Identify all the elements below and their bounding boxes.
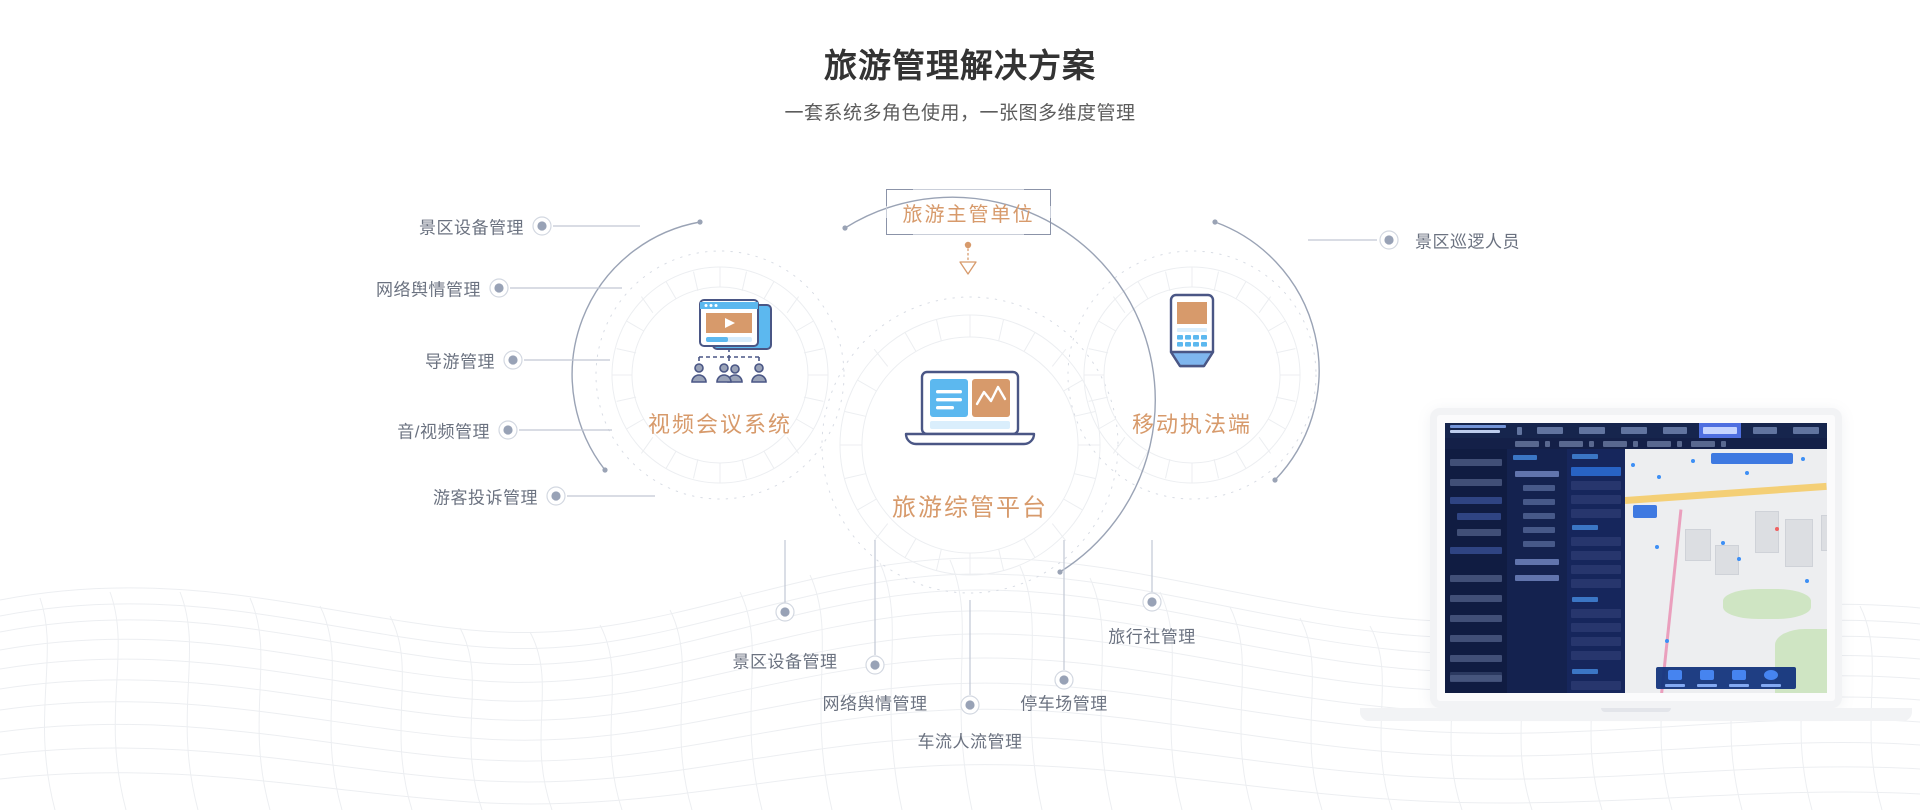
- dashboard-tab-4[interactable]: [1647, 441, 1671, 447]
- map-pin-11[interactable]: [1737, 557, 1741, 561]
- map-tool-label-2: [1697, 684, 1717, 687]
- bottom-connector-lines: [785, 540, 1152, 695]
- laptop-mockup: [1352, 408, 1920, 768]
- authority-connector-arrow: [960, 242, 976, 274]
- layer-item-10[interactable]: [1571, 623, 1621, 632]
- map-block-8: [1715, 545, 1739, 575]
- map-pin-15[interactable]: [1665, 639, 1669, 643]
- dashboard-tab-1[interactable]: [1515, 441, 1539, 447]
- map-block-7: [1685, 529, 1711, 561]
- layer-item-9[interactable]: [1571, 609, 1621, 618]
- label-scenic-device-bottom: 景区设备管理: [733, 648, 838, 673]
- map-pin-alert-1[interactable]: [1775, 527, 1779, 531]
- layer-item-2[interactable]: [1571, 481, 1621, 490]
- hub-title-video-conference: 视频会议系统: [648, 407, 792, 439]
- label-tourist-complaint-left: 游客投诉管理: [433, 484, 538, 509]
- dashboard-layers-panel[interactable]: [1567, 449, 1625, 693]
- sidebar-footer: [1450, 672, 1502, 681]
- layer-item-11[interactable]: [1571, 637, 1621, 646]
- tree-node-1-2[interactable]: [1523, 499, 1555, 505]
- hub-circle-mobile-enforcement: [1068, 251, 1316, 499]
- dashboard-tree-panel[interactable]: [1507, 449, 1567, 693]
- sidebar-item-7[interactable]: [1450, 615, 1502, 622]
- page-subtitle: 一套系统多角色使用，一张图多维度管理: [0, 99, 1920, 129]
- dashboard-nav-3[interactable]: [1621, 427, 1647, 434]
- hub-title-tourism-platform: 旅游综管平台: [892, 488, 1048, 523]
- map-pin-5[interactable]: [1801, 457, 1805, 461]
- dashboard-tab-close-5[interactable]: [1721, 441, 1726, 447]
- map-road-secondary: [1659, 509, 1683, 693]
- map-tool-1[interactable]: [1668, 670, 1682, 680]
- sidebar-item-6[interactable]: [1450, 595, 1502, 602]
- sidebar-item-3b[interactable]: [1457, 529, 1501, 536]
- sidebar-item-8[interactable]: [1450, 635, 1502, 642]
- layer-item-4[interactable]: [1571, 509, 1621, 518]
- right-connector-dots: [1380, 231, 1398, 249]
- dashboard-tab-5[interactable]: [1691, 441, 1715, 447]
- sidebar-item-2[interactable]: [1450, 479, 1502, 486]
- dashboard-topbar[interactable]: [1445, 423, 1827, 438]
- sidebar-item-4[interactable]: [1450, 547, 1502, 554]
- map-bottom-toolbar[interactable]: [1656, 667, 1796, 689]
- layer-item-8[interactable]: [1571, 579, 1621, 588]
- layer-item-7[interactable]: [1571, 565, 1621, 574]
- dashboard-tab-2[interactable]: [1559, 441, 1583, 447]
- map-pin-3[interactable]: [1691, 459, 1695, 463]
- laptop-lid: [1430, 408, 1842, 708]
- hub-title-mobile-enforcement: 移动执法端: [1132, 407, 1252, 439]
- handheld-device-icon: [1171, 295, 1213, 366]
- label-tour-guide-left: 导游管理: [425, 348, 495, 373]
- sidebar-item-3a[interactable]: [1457, 513, 1501, 520]
- tree-node-1-1[interactable]: [1523, 485, 1555, 491]
- label-travel-agency-bottom: 旅行社管理: [1108, 623, 1196, 648]
- sidebar-item-1[interactable]: [1450, 459, 1502, 466]
- dashboard-tab-close-2[interactable]: [1589, 441, 1594, 447]
- laptop-screen: [1445, 423, 1827, 693]
- dashboard-nav-2[interactable]: [1579, 427, 1605, 434]
- map-tool-4[interactable]: [1764, 670, 1778, 680]
- map-park-1: [1723, 589, 1811, 619]
- dashboard-nav-active[interactable]: [1699, 423, 1741, 438]
- map-block-2: [1785, 519, 1813, 567]
- tree-panel-title: [1513, 455, 1537, 460]
- map-tool-3[interactable]: [1732, 670, 1746, 680]
- sidebar-item-5[interactable]: [1450, 575, 1502, 582]
- map-tool-2[interactable]: [1700, 670, 1714, 680]
- dashboard-tab-close-3[interactable]: [1633, 441, 1638, 447]
- sidebar-item-9[interactable]: [1450, 655, 1502, 662]
- layer-item-12[interactable]: [1571, 651, 1621, 660]
- label-audio-video-left: 音/视频管理: [397, 418, 490, 443]
- page-stage: 旅游管理解决方案 一套系统多角色使用，一张图多维度管理: [0, 0, 1920, 810]
- layer-item-1[interactable]: [1571, 467, 1621, 476]
- dashboard-tabstrip[interactable]: [1445, 438, 1827, 449]
- dashboard-tab-close-1[interactable]: [1545, 441, 1550, 447]
- authority-label: 旅游主管单位: [886, 189, 1051, 235]
- dashboard-nav-4[interactable]: [1663, 427, 1687, 434]
- label-parking-lot-bottom: 停车场管理: [1020, 690, 1108, 715]
- map-pin-2[interactable]: [1657, 475, 1661, 479]
- authority-badge: 旅游主管单位: [886, 189, 1051, 235]
- dashboard-nav-5[interactable]: [1753, 427, 1777, 434]
- label-scenic-device-left: 景区设备管理: [419, 214, 524, 239]
- dashboard-menu-icon[interactable]: [1517, 427, 1522, 435]
- map-callout: [1633, 505, 1657, 518]
- map-pin-4[interactable]: [1745, 471, 1749, 475]
- dashboard-logo: [1450, 425, 1506, 436]
- map-banner-control[interactable]: [1711, 453, 1793, 464]
- tree-node-1-4[interactable]: [1523, 527, 1555, 533]
- map-pin-9[interactable]: [1655, 545, 1659, 549]
- dashboard-nav-1[interactable]: [1537, 427, 1563, 434]
- label-network-opinion-bottom: 网络舆情管理: [823, 690, 928, 715]
- map-block-1: [1755, 511, 1779, 553]
- tree-node-1-5[interactable]: [1523, 541, 1555, 547]
- tree-node-2[interactable]: [1515, 559, 1559, 565]
- laptop-dashboard-icon: [906, 372, 1034, 444]
- label-scenic-patrol-right: 景区巡逻人员: [1415, 228, 1520, 253]
- dashboard-nav-6[interactable]: [1793, 427, 1819, 434]
- layer-item-5[interactable]: [1571, 537, 1621, 546]
- label-network-opinion-left: 网络舆情管理: [376, 276, 481, 301]
- dashboard-sidebar[interactable]: [1445, 449, 1507, 693]
- map-tool-label-1: [1665, 684, 1685, 687]
- tree-node-1-3[interactable]: [1523, 513, 1555, 519]
- page-title: 旅游管理解决方案: [0, 44, 1920, 88]
- left-connector-dots: [490, 217, 565, 505]
- layer-item-13[interactable]: [1571, 681, 1621, 690]
- page-header: 旅游管理解决方案 一套系统多角色使用，一张图多维度管理: [0, 44, 1920, 129]
- layers-group-3-title: [1572, 597, 1598, 602]
- dashboard-map[interactable]: [1625, 449, 1827, 693]
- sidebar-item-3[interactable]: [1450, 497, 1502, 504]
- video-window-icon: [692, 300, 771, 382]
- map-block-3: [1821, 515, 1827, 551]
- layer-item-6[interactable]: [1571, 551, 1621, 560]
- map-tool-label-3: [1729, 684, 1749, 687]
- laptop-base: [1360, 708, 1912, 721]
- layers-group-1-title: [1572, 454, 1598, 459]
- map-road-main: [1625, 483, 1827, 504]
- map-pin-12[interactable]: [1805, 579, 1809, 583]
- tree-node-3[interactable]: [1515, 575, 1559, 581]
- map-tool-label-4: [1761, 684, 1781, 687]
- dashboard-tab-3[interactable]: [1603, 441, 1627, 447]
- map-pin-1[interactable]: [1631, 463, 1635, 467]
- map-pin-10[interactable]: [1721, 541, 1725, 545]
- layers-group-2-title: [1572, 525, 1598, 530]
- hub-circle-video-conference: [596, 251, 844, 499]
- dashboard-tab-close-4[interactable]: [1677, 441, 1682, 447]
- label-traffic-flow-bottom: 车流人流管理: [918, 728, 1023, 753]
- tree-node-1[interactable]: [1515, 471, 1559, 477]
- layer-item-3[interactable]: [1571, 495, 1621, 504]
- layers-group-4-title: [1572, 669, 1598, 674]
